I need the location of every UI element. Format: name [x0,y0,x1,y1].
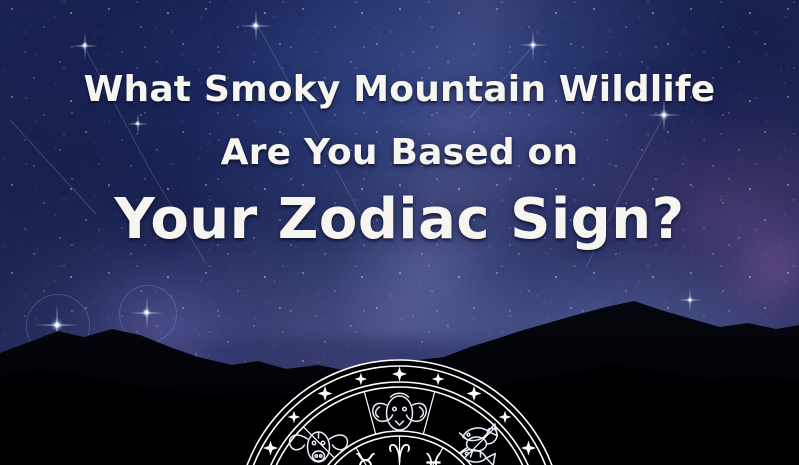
headline-line-1: What Smoky Mountain Wildlife [0,68,799,112]
zodiac-banner: ♈ ♉ ♊ ♋ ♌ ♍ ♎ ♏ ♐ ♑ ♒ ♓ [0,0,799,465]
headline-line-3: Your Zodiac Sign? [0,187,799,253]
headline-line-2: Are You Based on [0,131,799,175]
